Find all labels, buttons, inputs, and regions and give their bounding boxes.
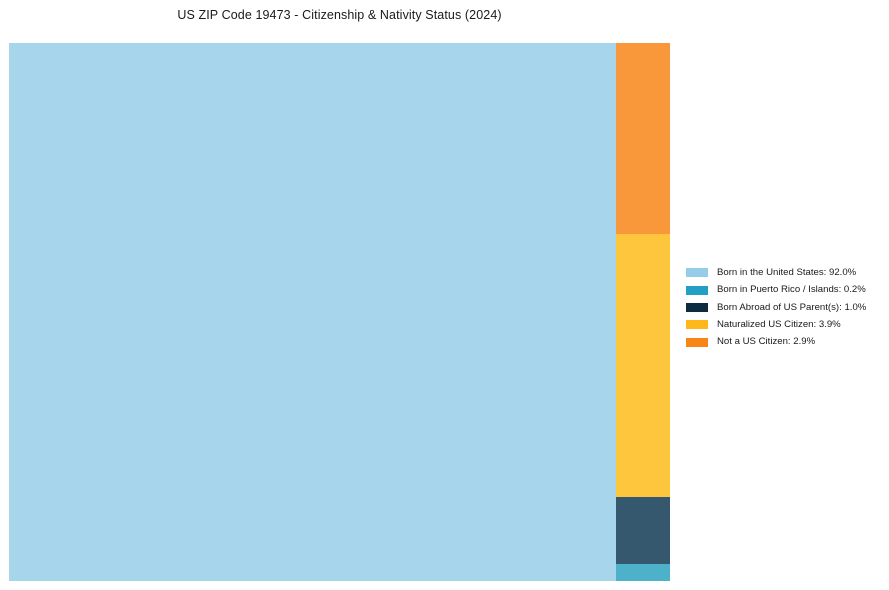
- treemap-tile-not-a-us-citizen[interactable]: [616, 43, 670, 234]
- legend-item-born-abroad-of-us-parents[interactable]: Born Abroad of US Parent(s): 1.0%: [686, 299, 882, 316]
- legend-item-naturalized-us-citizen[interactable]: Naturalized US Citizen: 3.9%: [686, 316, 882, 333]
- legend-item-label: Not a US Citizen: 2.9%: [717, 337, 815, 347]
- legend-item-label: Born in Puerto Rico / Islands: 0.2%: [717, 285, 866, 295]
- legend-item-label: Naturalized US Citizen: 3.9%: [717, 320, 841, 330]
- treemap-tile-born-in-the-united-states[interactable]: [9, 43, 616, 581]
- treemap-tile-born-abroad-of-us-parents[interactable]: [616, 497, 670, 564]
- chart-legend: Born in the United States: 92.0% Born in…: [686, 264, 882, 351]
- treemap-tile-born-in-puerto-rico-islands[interactable]: [616, 564, 670, 581]
- treemap-tile-naturalized-us-citizen[interactable]: [616, 234, 670, 497]
- legend-item-not-a-us-citizen[interactable]: Not a US Citizen: 2.9%: [686, 334, 882, 351]
- legend-item-label: Born Abroad of US Parent(s): 1.0%: [717, 303, 866, 313]
- legend-swatch-icon: [686, 286, 708, 295]
- legend-item-born-in-puerto-rico-islands[interactable]: Born in Puerto Rico / Islands: 0.2%: [686, 281, 882, 298]
- legend-swatch-icon: [686, 320, 708, 329]
- chart-title: US ZIP Code 19473 - Citizenship & Nativi…: [0, 8, 679, 22]
- legend-swatch-icon: [686, 268, 708, 277]
- legend-swatch-icon: [686, 338, 708, 347]
- treemap-plot-area: [9, 43, 670, 581]
- legend-item-born-in-the-united-states[interactable]: Born in the United States: 92.0%: [686, 264, 882, 281]
- legend-item-label: Born in the United States: 92.0%: [717, 268, 856, 278]
- legend-swatch-icon: [686, 303, 708, 312]
- treemap-chart-figure: US ZIP Code 19473 - Citizenship & Nativi…: [0, 0, 889, 590]
